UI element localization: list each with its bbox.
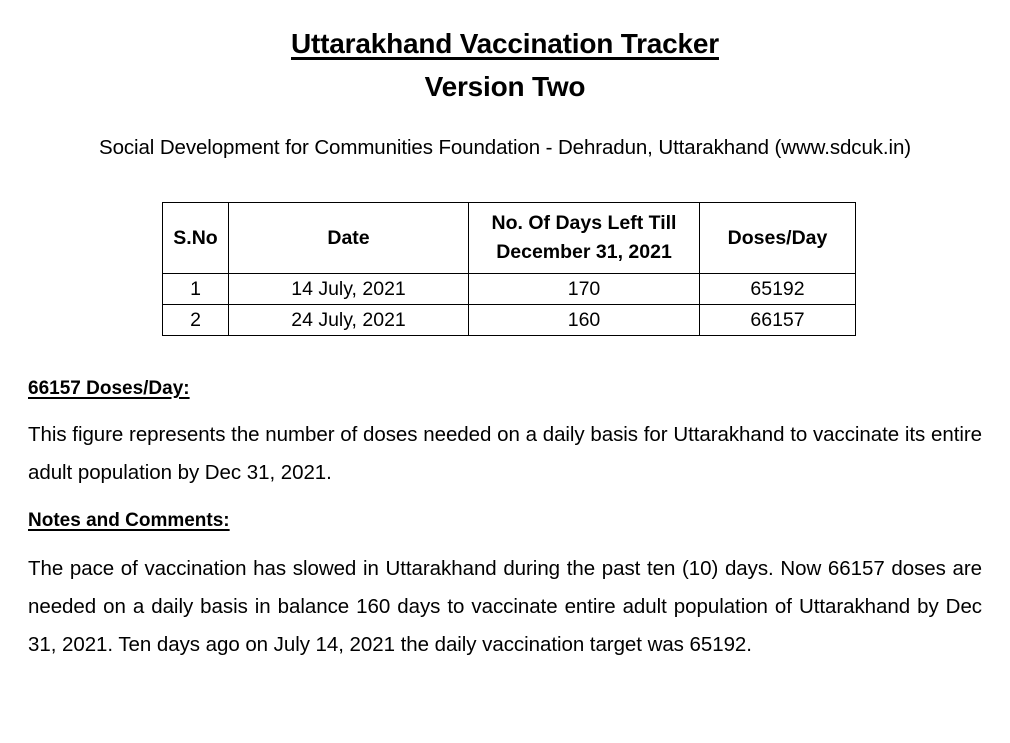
cell-sno: 2 (163, 305, 229, 336)
column-header-days-left-line2: December 31, 2021 (496, 241, 672, 263)
document-version-subtitle: Version Two (0, 66, 1010, 108)
section-paragraph-notes-and-comments: The pace of vaccination has slowed in Ut… (28, 550, 982, 664)
cell-sno: 1 (163, 274, 229, 305)
title-block: Uttarakhand Vaccination Tracker Version … (0, 0, 1010, 108)
column-header-doses-per-day: Doses/Day (700, 203, 856, 274)
cell-days-left: 170 (469, 274, 700, 305)
vaccination-tracker-table: S.No Date No. Of Days Left Till December… (162, 202, 856, 336)
table-header: S.No Date No. Of Days Left Till December… (163, 203, 856, 274)
body-content: 66157 Doses/Day: This figure represents … (28, 336, 982, 664)
section-spacer (28, 492, 982, 508)
table-header-row: S.No Date No. Of Days Left Till December… (163, 203, 856, 274)
table-row: 1 14 July, 2021 170 65192 (163, 274, 856, 305)
section-paragraph-doses-per-day: This figure represents the number of dos… (28, 416, 982, 492)
column-header-sno: S.No (163, 203, 229, 274)
column-header-days-left: No. Of Days Left Till December 31, 2021 (469, 203, 700, 274)
section-heading-notes-and-comments: Notes and Comments: (28, 508, 982, 534)
cell-doses-per-day: 65192 (700, 274, 856, 305)
section-heading-doses-per-day: 66157 Doses/Day: (28, 376, 982, 402)
table-row: 2 24 July, 2021 160 66157 (163, 305, 856, 336)
table-body: 1 14 July, 2021 170 65192 2 24 July, 202… (163, 274, 856, 336)
cell-doses-per-day: 66157 (700, 305, 856, 336)
column-header-date: Date (229, 203, 469, 274)
organization-line: Social Development for Communities Found… (0, 134, 1010, 162)
document-title: Uttarakhand Vaccination Tracker (0, 22, 1010, 66)
cell-date: 14 July, 2021 (229, 274, 469, 305)
document-page: Uttarakhand Vaccination Tracker Version … (0, 0, 1010, 743)
cell-date: 24 July, 2021 (229, 305, 469, 336)
document-title-text: Uttarakhand Vaccination Tracker (291, 28, 719, 59)
cell-days-left: 160 (469, 305, 700, 336)
column-header-days-left-line1: No. Of Days Left Till (492, 212, 677, 234)
tracker-table-wrap: S.No Date No. Of Days Left Till December… (0, 202, 1010, 336)
